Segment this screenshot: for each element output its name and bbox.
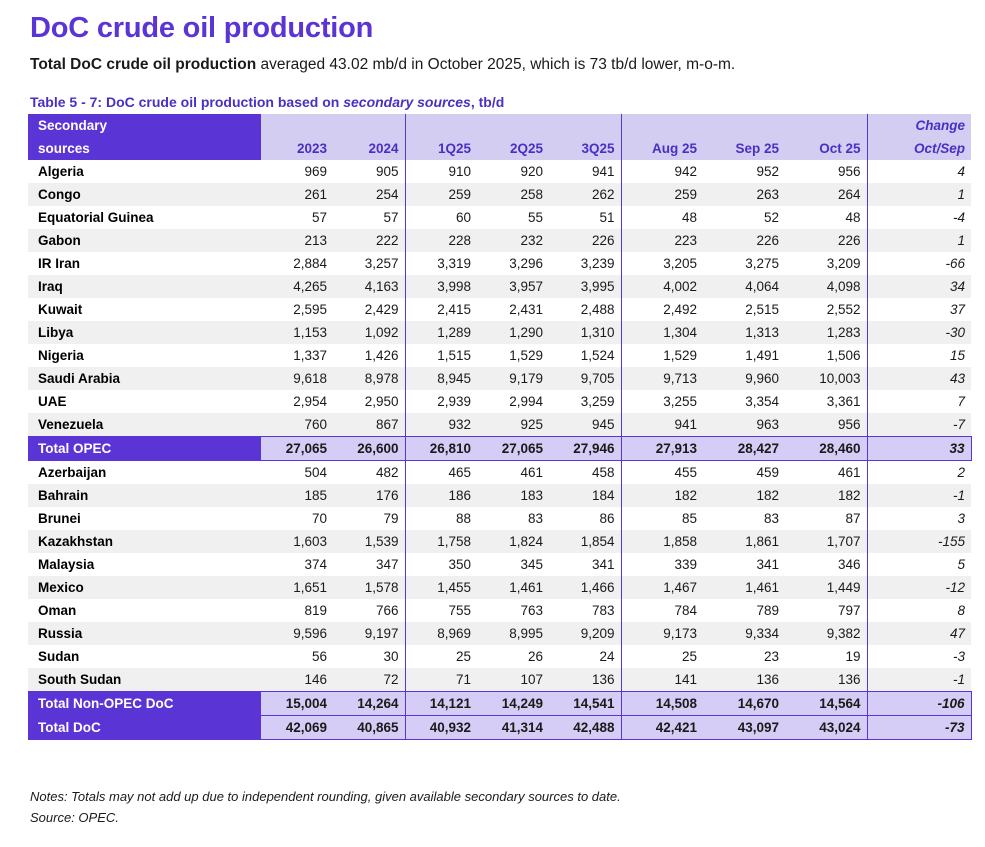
table-cell: 14,564 <box>785 692 867 716</box>
table-cell-change: 8 <box>867 599 971 622</box>
table-cell: 9,382 <box>785 622 867 645</box>
table-caption-emphasis: secondary sources <box>343 94 471 110</box>
table-cell: 925 <box>477 413 549 437</box>
table-cell: 942 <box>621 160 703 183</box>
column-header-spacer-2q25 <box>477 114 549 137</box>
table-cell: 455 <box>621 461 703 485</box>
table-cell: 261 <box>261 183 333 206</box>
table-cell: 3,239 <box>549 252 621 275</box>
column-header-2q25: 2Q25 <box>477 137 549 160</box>
table-cell-change: -3 <box>867 645 971 668</box>
table-cell: 1,455 <box>405 576 477 599</box>
table-cell-change: -4 <box>867 206 971 229</box>
table-cell: 1,092 <box>333 321 405 344</box>
table-cell: 2,488 <box>549 298 621 321</box>
table-cell: 8,995 <box>477 622 549 645</box>
table-cell: 784 <box>621 599 703 622</box>
summary-lead-bold: Total DoC crude oil production <box>30 56 256 73</box>
table-cell-change: 7 <box>867 390 971 413</box>
table-cell: 28,460 <box>785 437 867 461</box>
column-header-aug25: Aug 25 <box>621 137 703 160</box>
table-cell-change: -7 <box>867 413 971 437</box>
table-cell: 465 <box>405 461 477 485</box>
table-cell: 3,361 <box>785 390 867 413</box>
table-cell: 2,515 <box>703 298 785 321</box>
table-cell-change: 37 <box>867 298 971 321</box>
table-cell: 26,810 <box>405 437 477 461</box>
table-cell: 755 <box>405 599 477 622</box>
table-cell: 1,289 <box>405 321 477 344</box>
table-cell: 4,002 <box>621 275 703 298</box>
table-cell: 345 <box>477 553 549 576</box>
table-row: Equatorial Guinea5757605551485248-4 <box>28 206 971 229</box>
table-cell: 374 <box>261 553 333 576</box>
table-cell-change: -106 <box>867 692 971 716</box>
document-page: DoC crude oil production Total DoC crude… <box>0 0 985 847</box>
doc-crude-oil-production-table: Secondary sources Change 2023 2024 <box>28 114 972 740</box>
table-cell: 14,508 <box>621 692 703 716</box>
table-row: Venezuela760867932925945941963956-7 <box>28 413 971 437</box>
column-header-spacer-2024 <box>333 114 405 137</box>
table-row: Kazakhstan1,6031,5391,7581,8241,8541,858… <box>28 530 971 553</box>
row-label: Venezuela <box>28 413 261 437</box>
table-cell: 87 <box>785 507 867 530</box>
table-cell: 258 <box>477 183 549 206</box>
row-label: Kuwait <box>28 298 261 321</box>
table-cell: 783 <box>549 599 621 622</box>
row-label: Russia <box>28 622 261 645</box>
table-cell-change: -1 <box>867 668 971 692</box>
production-table-wrapper: Secondary sources Change 2023 2024 <box>28 114 961 740</box>
table-cell: 86 <box>549 507 621 530</box>
row-label: Malaysia <box>28 553 261 576</box>
table-cell: 1,467 <box>621 576 703 599</box>
table-row: Total Non-OPEC DoC15,00414,26414,12114,2… <box>28 692 971 716</box>
table-cell: 4,064 <box>703 275 785 298</box>
table-row: Malaysia3743473503453413393413465 <box>28 553 971 576</box>
table-header: Secondary sources Change 2023 2024 <box>28 114 971 160</box>
column-header-secondary-sources-line1: Secondary <box>38 114 255 137</box>
table-cell: 88 <box>405 507 477 530</box>
table-cell: 969 <box>261 160 333 183</box>
table-cell: 3,957 <box>477 275 549 298</box>
table-cell: 14,121 <box>405 692 477 716</box>
table-cell: 3,209 <box>785 252 867 275</box>
table-cell: 186 <box>405 484 477 507</box>
table-cell: 107 <box>477 668 549 692</box>
column-header-spacer-2023 <box>261 114 333 137</box>
table-cell: 14,249 <box>477 692 549 716</box>
table-row: Nigeria1,3371,4261,5151,5291,5241,5291,4… <box>28 344 971 367</box>
table-cell: 19 <box>785 645 867 668</box>
table-row: Gabon2132222282322262232262261 <box>28 229 971 252</box>
table-cell: 1,153 <box>261 321 333 344</box>
table-cell: 42,421 <box>621 716 703 740</box>
table-cell: 41,314 <box>477 716 549 740</box>
table-cell: 1,854 <box>549 530 621 553</box>
table-cell: 146 <box>261 668 333 692</box>
column-header-spacer-1q25 <box>405 114 477 137</box>
table-cell: 184 <box>549 484 621 507</box>
table-row: UAE2,9542,9502,9392,9943,2593,2553,3543,… <box>28 390 971 413</box>
table-cell: 1,466 <box>549 576 621 599</box>
table-cell-change: 47 <box>867 622 971 645</box>
table-cell-change: -66 <box>867 252 971 275</box>
table-cell: 70 <box>261 507 333 530</box>
table-cell-change: 3 <box>867 507 971 530</box>
table-cell: 43,024 <box>785 716 867 740</box>
table-cell: 932 <box>405 413 477 437</box>
table-cell: 9,618 <box>261 367 333 390</box>
table-cell: 8,969 <box>405 622 477 645</box>
column-header-change-line2: Oct/Sep <box>867 137 971 160</box>
table-notes: Notes: Totals may not add up due to inde… <box>30 786 621 807</box>
column-header-change-line1: Change <box>867 114 971 137</box>
table-cell: 25 <box>405 645 477 668</box>
table-cell: 941 <box>549 160 621 183</box>
table-cell: 10,003 <box>785 367 867 390</box>
table-cell: 226 <box>549 229 621 252</box>
table-cell: 9,960 <box>703 367 785 390</box>
table-cell-change: 2 <box>867 461 971 485</box>
row-label: South Sudan <box>28 668 261 692</box>
table-cell: 1,506 <box>785 344 867 367</box>
table-cell: 136 <box>549 668 621 692</box>
table-cell: 1,578 <box>333 576 405 599</box>
table-cell: 2,552 <box>785 298 867 321</box>
table-row: Total OPEC27,06526,60026,81027,06527,946… <box>28 437 971 461</box>
table-cell-change: 5 <box>867 553 971 576</box>
table-row: Bahrain185176186183184182182182-1 <box>28 484 971 507</box>
table-caption-suffix: , tb/d <box>471 94 504 110</box>
table-cell: 2,994 <box>477 390 549 413</box>
table-cell: 339 <box>621 553 703 576</box>
row-label: Gabon <box>28 229 261 252</box>
table-caption: Table 5 - 7: DoC crude oil production ba… <box>30 93 504 111</box>
table-cell: 263 <box>703 183 785 206</box>
table-cell: 956 <box>785 413 867 437</box>
table-cell: 43,097 <box>703 716 785 740</box>
table-cell: 48 <box>621 206 703 229</box>
table-cell: 2,950 <box>333 390 405 413</box>
column-header-spacer-3q25 <box>549 114 621 137</box>
table-cell: 1,758 <box>405 530 477 553</box>
table-cell: 459 <box>703 461 785 485</box>
table-cell: 350 <box>405 553 477 576</box>
column-header-1q25: 1Q25 <box>405 137 477 160</box>
table-cell: 760 <box>261 413 333 437</box>
column-header-3q25: 3Q25 <box>549 137 621 160</box>
table-cell: 3,259 <box>549 390 621 413</box>
table-cell: 1,651 <box>261 576 333 599</box>
table-cell: 182 <box>703 484 785 507</box>
table-cell: 867 <box>333 413 405 437</box>
table-cell: 56 <box>261 645 333 668</box>
table-cell: 797 <box>785 599 867 622</box>
table-cell: 26,600 <box>333 437 405 461</box>
table-cell: 1,524 <box>549 344 621 367</box>
table-cell: 910 <box>405 160 477 183</box>
table-row: Oman8197667557637837847897978 <box>28 599 971 622</box>
table-cell: 226 <box>785 229 867 252</box>
table-cell: 341 <box>703 553 785 576</box>
table-cell: 1,304 <box>621 321 703 344</box>
table-cell: 262 <box>549 183 621 206</box>
table-cell: 905 <box>333 160 405 183</box>
table-cell: 1,515 <box>405 344 477 367</box>
table-cell: 920 <box>477 160 549 183</box>
table-row: IR Iran2,8843,2573,3193,2963,2393,2053,2… <box>28 252 971 275</box>
table-caption-prefix: Table 5 - 7: DoC crude oil production ba… <box>30 94 343 110</box>
column-header-2024: 2024 <box>333 137 405 160</box>
table-cell: 71 <box>405 668 477 692</box>
table-cell: 952 <box>703 160 785 183</box>
table-cell-change: 1 <box>867 183 971 206</box>
table-cell: 341 <box>549 553 621 576</box>
table-cell: 458 <box>549 461 621 485</box>
row-label: UAE <box>28 390 261 413</box>
table-cell: 226 <box>703 229 785 252</box>
table-cell: 182 <box>785 484 867 507</box>
row-label: Total OPEC <box>28 437 261 461</box>
table-cell: 945 <box>549 413 621 437</box>
table-cell: 57 <box>333 206 405 229</box>
table-cell: 3,257 <box>333 252 405 275</box>
table-row: Sudan5630252624252319-3 <box>28 645 971 668</box>
table-cell-change: -12 <box>867 576 971 599</box>
table-cell: 346 <box>785 553 867 576</box>
row-label: Total Non-OPEC DoC <box>28 692 261 716</box>
table-row: South Sudan1467271107136141136136-1 <box>28 668 971 692</box>
table-cell: 2,884 <box>261 252 333 275</box>
table-cell: 3,998 <box>405 275 477 298</box>
table-cell: 482 <box>333 461 405 485</box>
table-cell: 85 <box>621 507 703 530</box>
table-cell: 347 <box>333 553 405 576</box>
table-cell: 52 <box>703 206 785 229</box>
table-cell: 83 <box>703 507 785 530</box>
row-label: Saudi Arabia <box>28 367 261 390</box>
table-cell-change: 43 <box>867 367 971 390</box>
column-header-secondary-sources: Secondary sources <box>28 114 261 160</box>
row-label: Equatorial Guinea <box>28 206 261 229</box>
table-cell-change: 33 <box>867 437 971 461</box>
table-cell: 963 <box>703 413 785 437</box>
table-cell: 461 <box>477 461 549 485</box>
table-cell: 26 <box>477 645 549 668</box>
table-cell: 176 <box>333 484 405 507</box>
table-cell: 1,426 <box>333 344 405 367</box>
table-cell: 3,275 <box>703 252 785 275</box>
table-row: Brunei70798883868583873 <box>28 507 971 530</box>
table-row: Russia9,5969,1978,9698,9959,2099,1739,33… <box>28 622 971 645</box>
table-cell: 941 <box>621 413 703 437</box>
table-cell: 3,255 <box>621 390 703 413</box>
table-cell: 1,861 <box>703 530 785 553</box>
row-label: Nigeria <box>28 344 261 367</box>
table-cell: 9,713 <box>621 367 703 390</box>
table-cell: 1,449 <box>785 576 867 599</box>
table-cell: 136 <box>703 668 785 692</box>
column-header-spacer-aug25 <box>621 114 703 137</box>
table-cell: 28,427 <box>703 437 785 461</box>
table-cell: 72 <box>333 668 405 692</box>
row-label: Iraq <box>28 275 261 298</box>
table-cell: 213 <box>261 229 333 252</box>
table-cell: 3,205 <box>621 252 703 275</box>
table-cell: 763 <box>477 599 549 622</box>
table-cell: 2,954 <box>261 390 333 413</box>
table-cell: 9,334 <box>703 622 785 645</box>
table-cell: 51 <box>549 206 621 229</box>
table-cell: 27,913 <box>621 437 703 461</box>
table-cell: 4,163 <box>333 275 405 298</box>
column-header-spacer-oct25 <box>785 114 867 137</box>
table-cell: 254 <box>333 183 405 206</box>
table-cell: 264 <box>785 183 867 206</box>
table-cell: 2,415 <box>405 298 477 321</box>
row-label: IR Iran <box>28 252 261 275</box>
table-cell: 504 <box>261 461 333 485</box>
column-header-secondary-sources-line2: sources <box>38 137 255 160</box>
table-cell: 9,197 <box>333 622 405 645</box>
table-row: Congo2612542592582622592632641 <box>28 183 971 206</box>
table-cell: 4,098 <box>785 275 867 298</box>
table-cell: 9,705 <box>549 367 621 390</box>
table-cell-change: 34 <box>867 275 971 298</box>
table-row: Iraq4,2654,1633,9983,9573,9954,0024,0644… <box>28 275 971 298</box>
table-cell: 40,865 <box>333 716 405 740</box>
table-cell-change: 4 <box>867 160 971 183</box>
table-cell: 1,529 <box>621 344 703 367</box>
table-row: Saudi Arabia9,6188,9788,9459,1799,7059,7… <box>28 367 971 390</box>
row-label: Azerbaijan <box>28 461 261 485</box>
table-cell: 79 <box>333 507 405 530</box>
table-cell: 1,824 <box>477 530 549 553</box>
table-cell: 2,939 <box>405 390 477 413</box>
table-cell: 9,173 <box>621 622 703 645</box>
table-cell: 23 <box>703 645 785 668</box>
table-cell: 2,429 <box>333 298 405 321</box>
table-cell: 2,492 <box>621 298 703 321</box>
table-header-row: Secondary sources Change <box>28 114 971 137</box>
summary-paragraph: Total DoC crude oil production averaged … <box>30 55 735 75</box>
table-cell: 259 <box>621 183 703 206</box>
table-cell: 9,209 <box>549 622 621 645</box>
table-cell: 461 <box>785 461 867 485</box>
table-cell: 27,946 <box>549 437 621 461</box>
table-cell: 1,491 <box>703 344 785 367</box>
table-cell: 8,978 <box>333 367 405 390</box>
table-cell: 3,319 <box>405 252 477 275</box>
column-header-sep25: Sep 25 <box>703 137 785 160</box>
table-row: Libya1,1531,0921,2891,2901,3101,3041,313… <box>28 321 971 344</box>
row-label: Congo <box>28 183 261 206</box>
table-cell: 42,069 <box>261 716 333 740</box>
row-label: Oman <box>28 599 261 622</box>
table-row: Mexico1,6511,5781,4551,4611,4661,4671,46… <box>28 576 971 599</box>
table-cell: 60 <box>405 206 477 229</box>
column-header-spacer-sep25 <box>703 114 785 137</box>
table-cell: 1,461 <box>703 576 785 599</box>
table-cell: 1,310 <box>549 321 621 344</box>
table-cell: 223 <box>621 229 703 252</box>
table-cell: 9,179 <box>477 367 549 390</box>
table-cell: 1,313 <box>703 321 785 344</box>
table-cell: 3,296 <box>477 252 549 275</box>
page-title: DoC crude oil production <box>30 11 373 45</box>
row-label: Sudan <box>28 645 261 668</box>
table-cell: 55 <box>477 206 549 229</box>
table-cell: 228 <box>405 229 477 252</box>
table-cell: 1,529 <box>477 344 549 367</box>
table-cell: 789 <box>703 599 785 622</box>
table-cell: 8,945 <box>405 367 477 390</box>
row-label: Bahrain <box>28 484 261 507</box>
table-cell: 42,488 <box>549 716 621 740</box>
table-cell: 1,603 <box>261 530 333 553</box>
table-cell: 14,541 <box>549 692 621 716</box>
table-cell: 1,283 <box>785 321 867 344</box>
table-row: Azerbaijan5044824654614584554594612 <box>28 461 971 485</box>
table-cell-change: 15 <box>867 344 971 367</box>
table-cell: 136 <box>785 668 867 692</box>
table-cell-change: -30 <box>867 321 971 344</box>
table-row: Algeria9699059109209419429529564 <box>28 160 971 183</box>
table-cell: 185 <box>261 484 333 507</box>
table-cell: 25 <box>621 645 703 668</box>
row-label: Libya <box>28 321 261 344</box>
table-cell: 1,337 <box>261 344 333 367</box>
table-cell: 1,461 <box>477 576 549 599</box>
table-cell: 30 <box>333 645 405 668</box>
table-cell: 1,290 <box>477 321 549 344</box>
table-cell: 819 <box>261 599 333 622</box>
table-cell: 27,065 <box>477 437 549 461</box>
table-cell: 14,264 <box>333 692 405 716</box>
summary-lead-rest: averaged 43.02 mb/d in October 2025, whi… <box>256 56 735 73</box>
table-cell: 1,707 <box>785 530 867 553</box>
table-cell-change: 1 <box>867 229 971 252</box>
table-cell: 232 <box>477 229 549 252</box>
table-cell: 9,596 <box>261 622 333 645</box>
table-cell: 3,995 <box>549 275 621 298</box>
table-cell: 14,670 <box>703 692 785 716</box>
table-cell: 15,004 <box>261 692 333 716</box>
table-cell: 1,539 <box>333 530 405 553</box>
table-cell: 141 <box>621 668 703 692</box>
table-cell-change: -73 <box>867 716 971 740</box>
table-cell: 57 <box>261 206 333 229</box>
table-cell-change: -155 <box>867 530 971 553</box>
table-cell: 2,595 <box>261 298 333 321</box>
row-label: Kazakhstan <box>28 530 261 553</box>
row-label: Mexico <box>28 576 261 599</box>
table-cell: 24 <box>549 645 621 668</box>
table-cell: 4,265 <box>261 275 333 298</box>
column-header-oct25: Oct 25 <box>785 137 867 160</box>
row-label: Brunei <box>28 507 261 530</box>
table-cell: 222 <box>333 229 405 252</box>
table-cell: 259 <box>405 183 477 206</box>
table-cell: 48 <box>785 206 867 229</box>
column-header-2023: 2023 <box>261 137 333 160</box>
table-cell: 83 <box>477 507 549 530</box>
table-row: Kuwait2,5952,4292,4152,4312,4882,4922,51… <box>28 298 971 321</box>
table-cell: 27,065 <box>261 437 333 461</box>
table-cell: 182 <box>621 484 703 507</box>
table-cell: 3,354 <box>703 390 785 413</box>
